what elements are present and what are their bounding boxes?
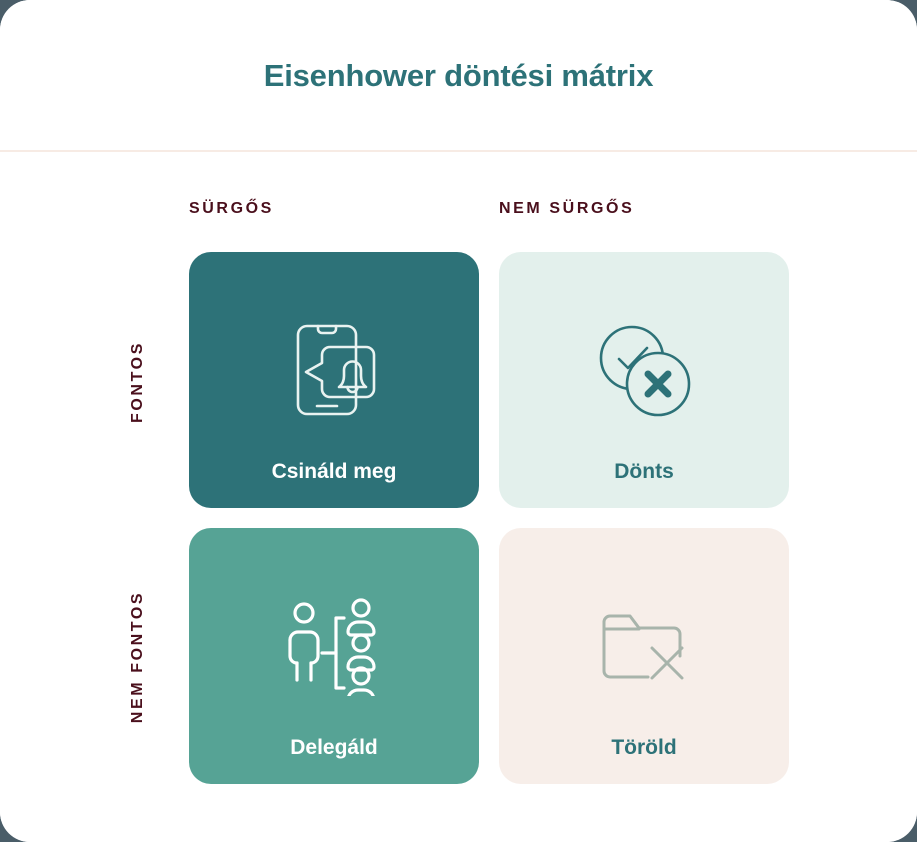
quadrant-card-delete[interactable]: Töröld (499, 528, 789, 784)
row-header-important: FONTOS (118, 252, 158, 512)
eisenhower-matrix-page: Eisenhower döntési mátrix SÜRGŐS NEM SÜR… (0, 0, 917, 842)
quadrant-label-delete: Töröld (611, 736, 676, 760)
header: Eisenhower döntési mátrix (0, 0, 917, 152)
quadrant-label-decide: Dönts (614, 460, 674, 484)
check-and-cross-circles-icon (594, 318, 694, 422)
quadrant-card-delegate[interactable]: Delegáld (189, 528, 479, 784)
column-header-not-urgent: NEM SÜRGŐS (499, 200, 634, 218)
row-header-important-label: FONTOS (129, 341, 147, 423)
quadrant-label-delegate: Delegáld (290, 736, 378, 760)
folder-delete-icon (596, 594, 692, 698)
quadrant-card-decide[interactable]: Dönts (499, 252, 789, 508)
page-title: Eisenhower döntési mátrix (264, 58, 654, 94)
person-delegation-hierarchy-icon (282, 594, 386, 698)
row-header-not-important: NEM FONTOS (118, 527, 158, 787)
quadrant-label-do: Csináld meg (272, 460, 397, 484)
column-header-urgent: SÜRGŐS (189, 200, 274, 218)
phone-notification-bell-icon (288, 318, 380, 422)
row-header-not-important-label: NEM FONTOS (129, 591, 147, 723)
matrix-area: SÜRGŐS NEM SÜRGŐS FONTOS NEM FONTOS (0, 152, 917, 842)
quadrant-card-do[interactable]: Csináld meg (189, 252, 479, 508)
